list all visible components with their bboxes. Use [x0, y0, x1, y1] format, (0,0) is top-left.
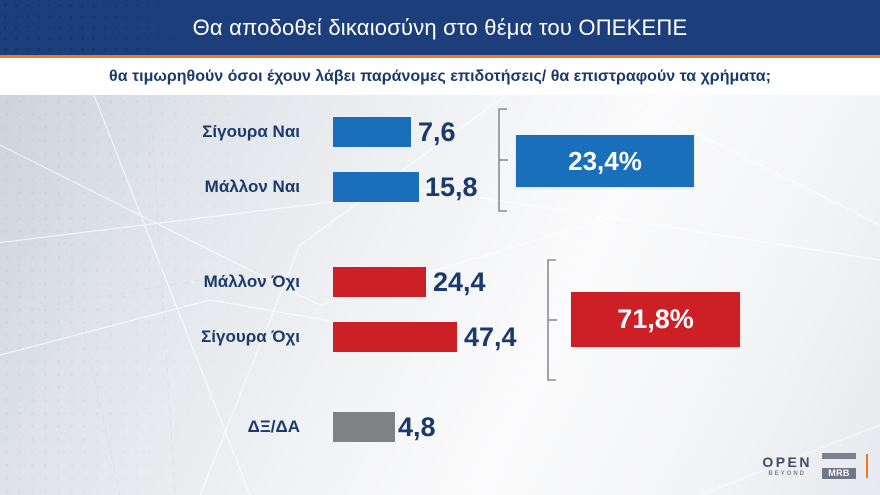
open-logo-subword: BEYOND [768, 471, 806, 477]
bar-mallon-ochi [333, 267, 426, 297]
summary-box-yes: 23,4% [516, 135, 694, 187]
value-mallon-nai: 15,8 [425, 170, 478, 204]
mrb-logo-word: MRB [822, 468, 856, 479]
bracket-yes-group [494, 108, 512, 212]
open-logo-word: OPEN [762, 455, 812, 469]
summary-box-no: 71,8% [571, 292, 740, 347]
summary-label-yes: 23,4% [568, 146, 642, 177]
logo-group: OPEN BEYOND MRB [762, 449, 868, 483]
subtitle-band: θα τιμωρηθούν όσοι έχουν λάβει παράνομες… [0, 58, 880, 95]
row-label-sigoura-nai: Σίγουρα Ναι [150, 115, 300, 149]
value-sigoura-nai: 7,6 [418, 115, 456, 149]
orange-accent-tick [866, 454, 868, 478]
value-dxda: 4,8 [398, 410, 436, 444]
table-row: Σίγουρα Όχι 47,4 [150, 320, 540, 354]
value-sigoura-ochi: 47,4 [464, 320, 517, 354]
row-label-mallon-nai: Μάλλον Ναι [150, 170, 300, 204]
page-subtitle: θα τιμωρηθούν όσοι έχουν λάβει παράνομες… [0, 58, 880, 95]
open-beyond-logo: OPEN BEYOND [762, 455, 812, 477]
summary-label-no: 71,8% [617, 304, 694, 335]
bracket-no-group [543, 259, 561, 381]
mrb-logo-bar [822, 453, 856, 459]
mrb-logo: MRB [822, 453, 856, 479]
page-title: Θα αποδοθεί δικαιοσύνη στο θέμα του ΟΠΕΚ… [0, 0, 880, 55]
bar-sigoura-nai [333, 117, 411, 147]
chart-screenshot: Θα αποδοθεί δικαιοσύνη στο θέμα του ΟΠΕΚ… [0, 0, 880, 495]
table-row: ΔΞ/ΔΑ 4,8 [150, 410, 495, 444]
table-row: Σίγουρα Ναι 7,6 [150, 115, 495, 149]
bar-mallon-nai [333, 172, 419, 202]
bar-dxda [333, 412, 395, 442]
header-bar: Θα αποδοθεί δικαιοσύνη στο θέμα του ΟΠΕΚ… [0, 0, 880, 55]
row-label-sigoura-ochi: Σίγουρα Όχι [150, 320, 300, 354]
bar-sigoura-ochi [333, 322, 457, 352]
row-label-mallon-ochi: Μάλλον Όχι [150, 265, 300, 299]
value-mallon-ochi: 24,4 [433, 265, 486, 299]
table-row: Μάλλον Όχι 24,4 [150, 265, 540, 299]
row-label-dxda: ΔΞ/ΔΑ [150, 410, 300, 444]
table-row: Μάλλον Ναι 15,8 [150, 170, 495, 204]
